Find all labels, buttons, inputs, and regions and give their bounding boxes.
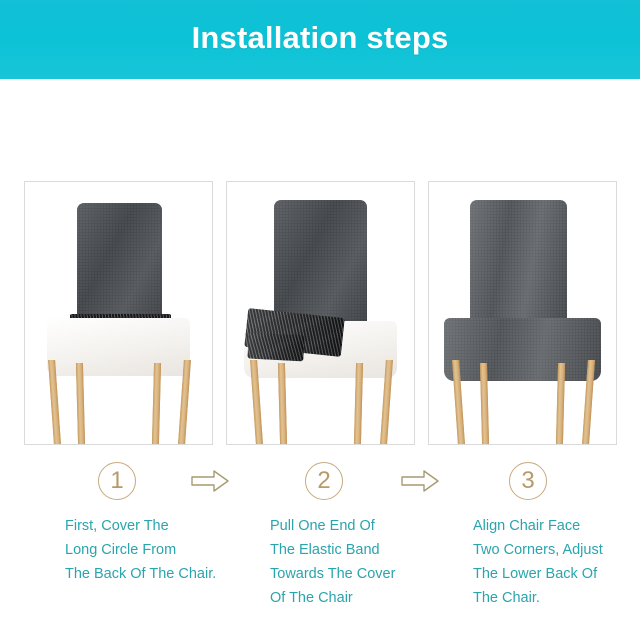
caption-line: The Back Of The Chair. <box>65 562 216 586</box>
bunched-elastic-fabric <box>247 333 304 362</box>
caption-line: The Lower Back Of <box>473 562 603 586</box>
caption-line: The Chair. <box>473 586 603 610</box>
chair-leg <box>354 363 363 444</box>
chair-illustration-step-3 <box>429 182 616 444</box>
caption-line: Long Circle From <box>65 538 216 562</box>
caption-line: Of The Chair <box>270 586 395 610</box>
chair-photo-panel-3 <box>428 181 617 445</box>
chair-photo-panels <box>24 181 617 445</box>
installation-steps-page: Installation steps <box>0 0 640 640</box>
chair-backrest-covered <box>77 203 161 321</box>
caption-line: The Elastic Band <box>270 538 395 562</box>
chair-seat-covered <box>444 318 601 381</box>
chair-leg <box>152 363 161 444</box>
chair-illustration-step-2 <box>227 182 414 444</box>
step-caption-2: Pull One End Of The Elastic Band Towards… <box>270 514 395 610</box>
header-banner: Installation steps <box>0 0 640 79</box>
caption-line: Two Corners, Adjust <box>473 538 603 562</box>
step-captions: First, Cover The Long Circle From The Ba… <box>0 514 640 624</box>
step-caption-1: First, Cover The Long Circle From The Ba… <box>65 514 216 586</box>
chair-leg <box>556 363 565 444</box>
step-caption-3: Align Chair Face Two Corners, Adjust The… <box>473 514 603 610</box>
arrow-step-2-to-3-icon <box>400 468 440 494</box>
step-number-badge-3: 3 <box>509 462 547 500</box>
caption-line: Pull One End Of <box>270 514 395 538</box>
chair-photo-panel-2 <box>226 181 415 445</box>
step-number-badge-1: 1 <box>98 462 136 500</box>
caption-line: Align Chair Face <box>473 514 603 538</box>
caption-line: First, Cover The <box>65 514 216 538</box>
step-number-badge-2: 2 <box>305 462 343 500</box>
arrow-step-1-to-2-icon <box>190 468 230 494</box>
page-title: Installation steps <box>192 20 449 56</box>
chair-seat-uncovered <box>47 318 189 376</box>
step-indicators-row: 1 2 3 <box>0 462 640 514</box>
chair-illustration-step-1 <box>25 182 212 444</box>
caption-line: Towards The Cover <box>270 562 395 586</box>
chair-backrest-covered <box>274 200 368 323</box>
chair-photo-panel-1 <box>24 181 213 445</box>
chair-backrest-covered <box>470 200 567 323</box>
